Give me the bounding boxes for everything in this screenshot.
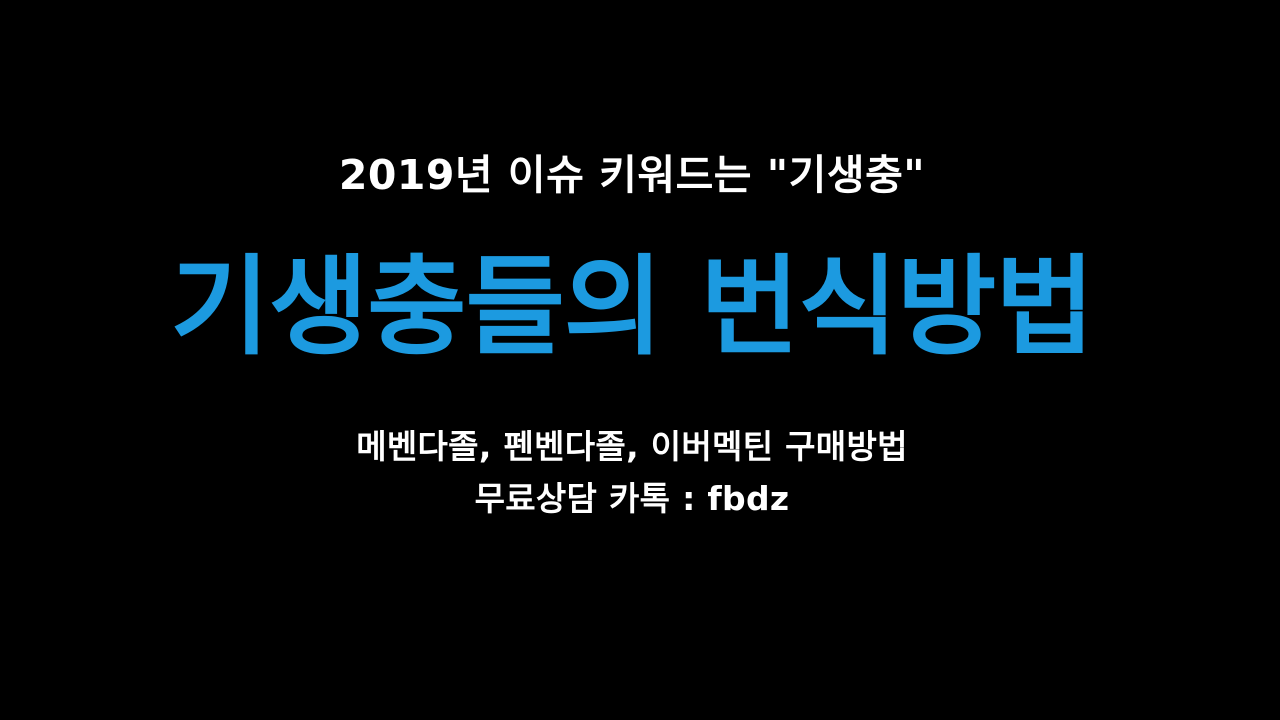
subcaption-line-products: 메벤다졸, 펜벤다졸, 이버멕틴 구매방법 [356,421,908,473]
kicker-text: 2019년 이슈 키워드는 "기생충" [339,152,925,199]
title-text-stack: 2019년 이슈 키워드는 "기생충" 기생충들의번식방법 메벤다졸, 펜벤다졸… [0,0,1264,720]
subcaption-block: 메벤다졸, 펜벤다졸, 이버멕틴 구매방법 무료상담 카톡 : fbdz [356,421,908,525]
headline: 기생충들의번식방법 [170,251,1093,364]
headline-word-2: 번식방법 [700,245,1093,370]
subcaption-line-contact: 무료상담 카톡 : fbdz [356,473,908,525]
headline-word-1: 기생충들의 [170,245,662,370]
video-title-card: 2019년 이슈 키워드는 "기생충" 기생충들의번식방법 메벤다졸, 펜벤다졸… [0,0,1280,720]
